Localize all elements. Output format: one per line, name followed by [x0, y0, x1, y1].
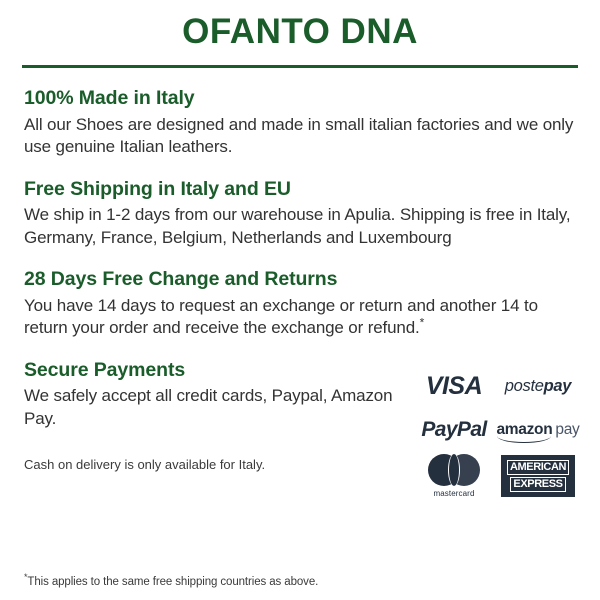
section-free-returns: 28 Days Free Change and Returns You have…: [24, 267, 578, 340]
section-body: We ship in 1-2 days from our warehouse i…: [24, 204, 578, 249]
section-body: You have 14 days to request an exchange …: [24, 295, 578, 340]
section-heading: Secure Payments: [24, 358, 414, 382]
section-body: All our Shoes are designed and made in s…: [24, 114, 578, 159]
visa-wordmark: VISA: [426, 372, 482, 401]
footnote: *This applies to the same free shipping …: [24, 576, 318, 588]
postepay-logo: postepay: [494, 364, 582, 409]
amex-logo: AMERICAN EXPRESS: [494, 451, 582, 501]
amazon-pay-part-light: pay: [555, 421, 579, 438]
page-title: OFANTO DNA: [0, 12, 600, 52]
postepay-part-light: poste: [505, 377, 544, 395]
title-divider: [22, 65, 578, 68]
section-body-text: You have 14 days to request an exchange …: [24, 296, 538, 338]
footnote-marker: *: [420, 316, 425, 330]
mastercard-mark: mastercard: [428, 454, 480, 498]
postepay-part-bold: pay: [544, 377, 572, 395]
paypal-logo: PayPal: [414, 409, 494, 451]
amazon-smile-icon: amazon: [496, 421, 552, 440]
panel-header: OFANTO DNA: [0, 0, 600, 68]
postepay-wordmark: postepay: [505, 377, 571, 396]
mastercard-overlap: [448, 454, 460, 486]
section-secure-payments: Secure Payments We safely accept all cre…: [24, 358, 578, 501]
paypal-wordmark: PayPal: [421, 418, 486, 442]
footnote-text: This applies to the same free shipping c…: [27, 576, 318, 588]
payment-logo-grid: VISA postepay PayPal amazonpay: [414, 364, 582, 501]
section-heading: 100% Made in Italy: [24, 86, 578, 110]
amex-line-one: AMERICAN: [507, 460, 569, 475]
amazon-pay-wordmark: amazonpay: [496, 421, 579, 439]
mastercard-wordmark: mastercard: [433, 489, 474, 498]
amex-mark: AMERICAN EXPRESS: [501, 455, 575, 497]
section-body: We safely accept all credit cards, Paypa…: [24, 385, 414, 430]
secure-payments-text: Secure Payments We safely accept all cre…: [24, 358, 414, 473]
amex-line-two: EXPRESS: [510, 477, 565, 492]
cash-on-delivery-note: Cash on delivery is only available for I…: [24, 457, 414, 474]
section-made-in-italy: 100% Made in Italy All our Shoes are des…: [24, 86, 578, 159]
visa-logo: VISA: [414, 364, 494, 409]
amazon-pay-logo: amazonpay: [494, 409, 582, 451]
section-heading: Free Shipping in Italy and EU: [24, 177, 578, 201]
panel-content: 100% Made in Italy All our Shoes are des…: [0, 86, 600, 501]
section-free-shipping: Free Shipping in Italy and EU We ship in…: [24, 177, 578, 250]
section-heading: 28 Days Free Change and Returns: [24, 267, 578, 291]
mastercard-circles-icon: [428, 454, 480, 486]
mastercard-logo: mastercard: [414, 451, 494, 501]
ofanto-dna-info-panel: OFANTO DNA 100% Made in Italy All our Sh…: [0, 0, 600, 600]
